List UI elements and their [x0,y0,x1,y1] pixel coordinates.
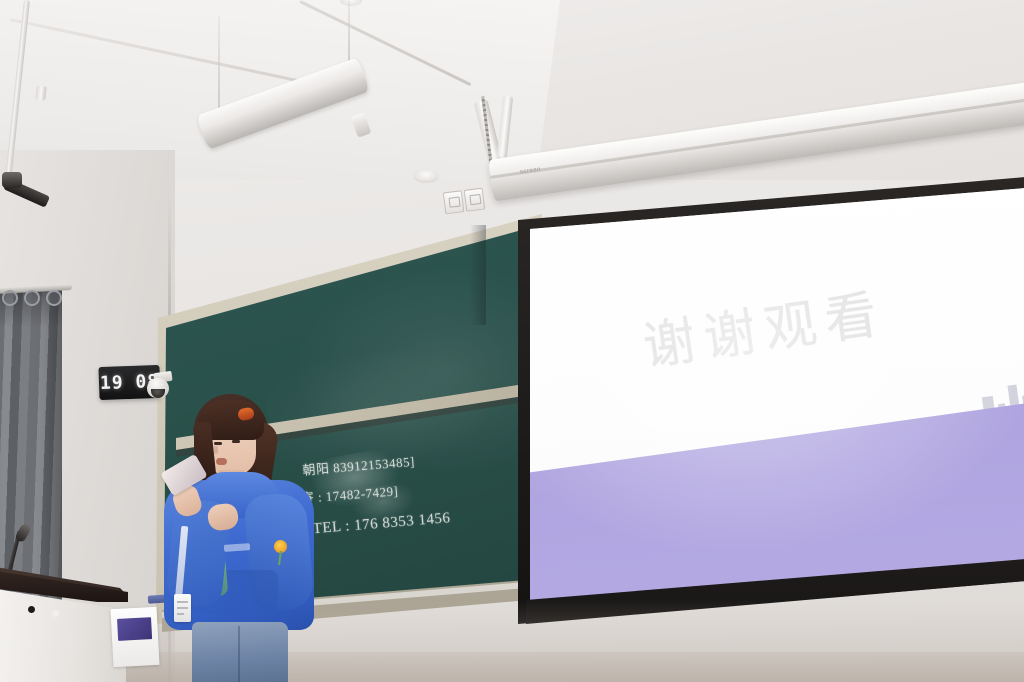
podium-sign-label [117,617,152,641]
podium-control-button[interactable] [28,606,35,613]
socket-pin-icon [449,197,461,208]
jeans-seam [238,626,240,682]
curtain-grommet-icon [2,290,18,306]
podium-body [0,588,130,682]
wall-socket-left[interactable] [443,190,465,214]
badge-line-3 [177,613,184,615]
nose [214,446,218,454]
eye-left [214,442,222,445]
housing-brand-label: screen [520,167,542,176]
jeans [192,622,288,682]
badge-line-2 [177,607,188,609]
mouth [216,458,227,465]
eye-right [232,440,240,443]
id-badge [174,594,191,622]
podium-indicator-light [52,610,59,617]
presentation-slide: 谢谢观看 [504,176,1024,624]
podium-indicator-light-2 [72,613,79,620]
badge-line-1 [177,601,188,603]
socket-pin-icon [469,194,481,205]
slide-title-text: 谢谢观看 [638,271,890,380]
classroom-scene: 朝阳 83912153485] 寄 : 17482-7429] 院 [ TEL … [0,0,1024,682]
board-right-shadow [470,225,486,325]
curtain-grommet-icon [46,290,62,306]
projection-screen-surface[interactable]: 谢谢观看 [504,176,1024,624]
wall-socket-right[interactable] [464,188,486,212]
presenter-person [152,388,320,682]
curtain-grommet-icon [24,290,40,306]
